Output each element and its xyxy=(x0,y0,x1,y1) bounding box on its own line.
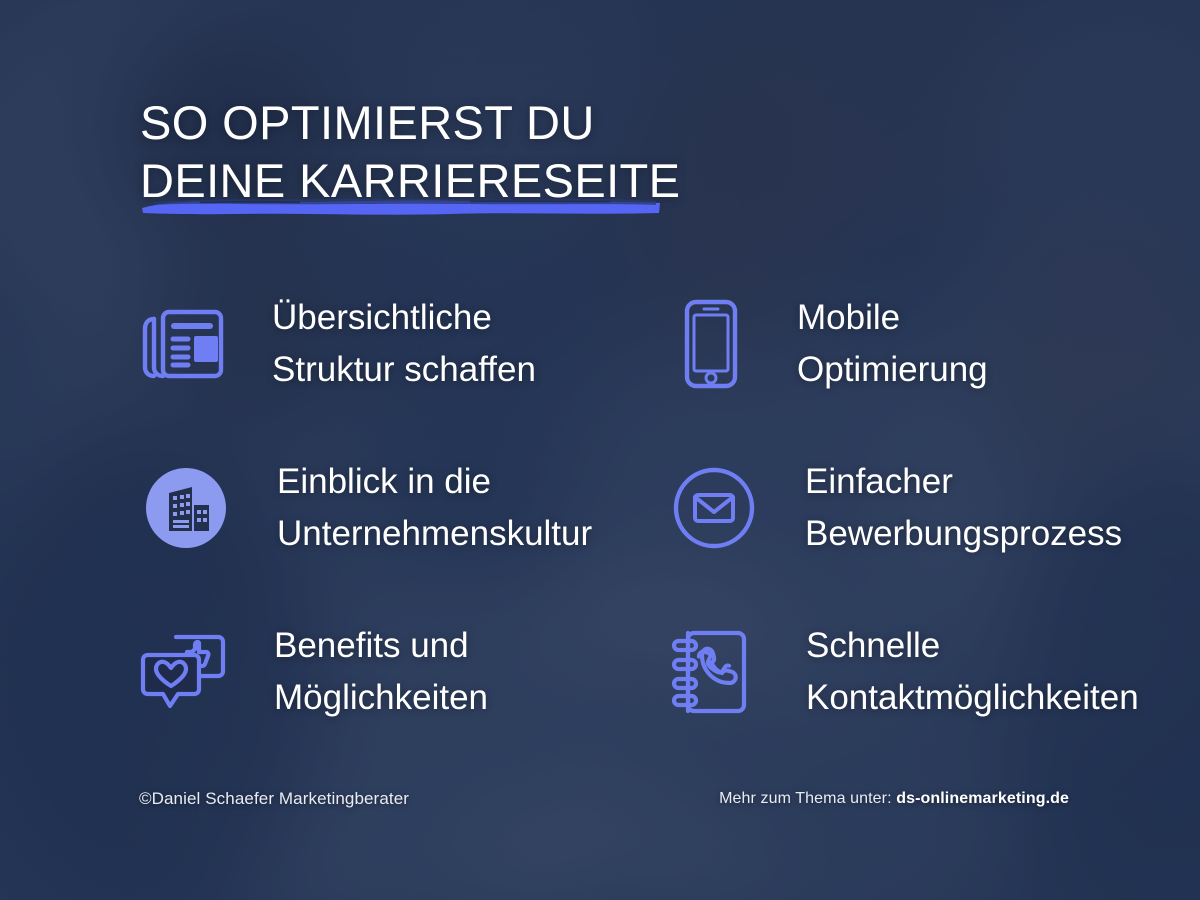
footer-cta: Mehr zum Thema unter: ds-onlinemarketing… xyxy=(719,790,1069,808)
website-link[interactable]: ds-onlinemarketing.de xyxy=(896,790,1069,807)
list-item-bewerbungsprozess: Einfacher Bewerbungsprozess xyxy=(673,456,1122,560)
list-item-label: Schnelle Kontaktmöglichkeiten xyxy=(806,620,1139,724)
footer-cta-prefix: Mehr zum Thema unter: xyxy=(719,790,896,807)
speech-bubbles-heart-thumbsup-icon xyxy=(138,629,230,715)
list-item-benefits: Benefits und Möglichkeiten xyxy=(138,620,488,724)
address-book-phone-icon xyxy=(668,627,754,717)
smartphone-icon xyxy=(683,299,739,389)
list-item-label: Mobile Optimierung xyxy=(797,292,988,396)
list-item-label: Übersichtliche Struktur schaffen xyxy=(272,292,536,396)
list-item-label: Benefits und Möglichkeiten xyxy=(274,620,488,724)
benefits-grid: Übersichtliche Struktur schaffen Mobile … xyxy=(0,0,1200,900)
list-item-label: Einblick in die Unternehmenskultur xyxy=(277,456,592,560)
infographic-poster: SO OPTIMIERST DU DEINE KARRIERESEITE xyxy=(0,0,1200,900)
office-building-circle-icon xyxy=(145,467,227,549)
list-item-kontaktmoeglichkeiten: Schnelle Kontaktmöglichkeiten xyxy=(668,620,1139,724)
list-item-mobile-optimierung: Mobile Optimierung xyxy=(683,292,988,396)
list-item-label: Einfacher Bewerbungsprozess xyxy=(805,456,1122,560)
list-item-unternehmenskultur: Einblick in die Unternehmenskultur xyxy=(145,456,592,560)
envelope-circle-icon xyxy=(673,467,755,549)
copyright-text: ©Daniel Schaefer Marketingberater xyxy=(139,789,409,809)
list-item-uebersichtliche-struktur: Übersichtliche Struktur schaffen xyxy=(138,292,536,396)
newspaper-icon xyxy=(138,305,230,383)
